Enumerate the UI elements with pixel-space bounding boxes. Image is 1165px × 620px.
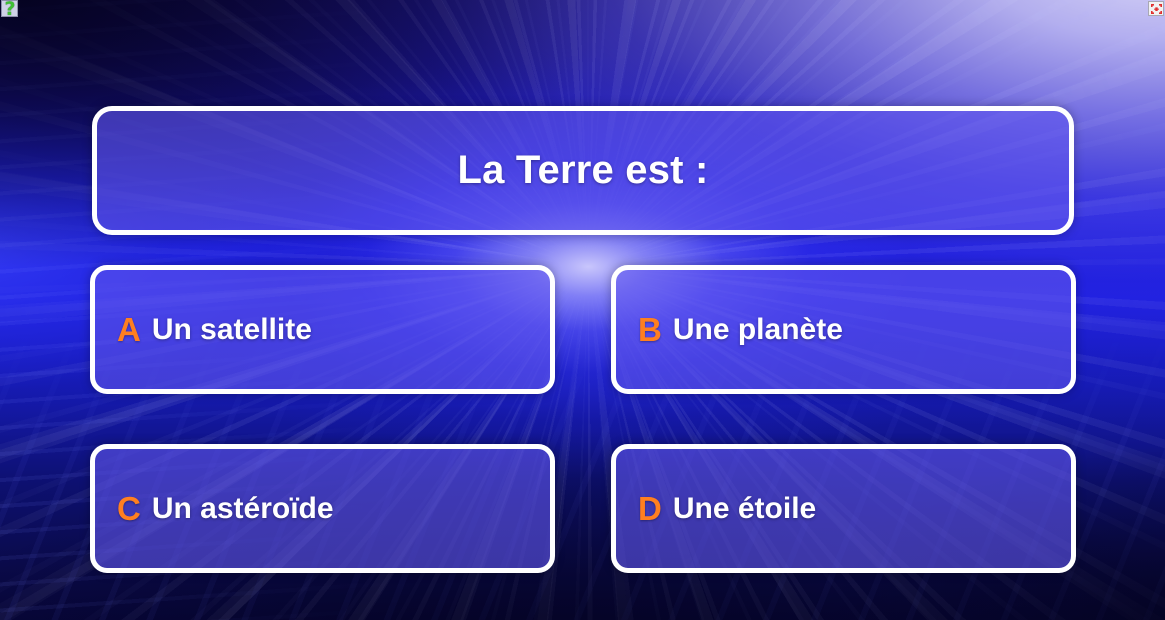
- answer-label-d: Une étoile: [673, 494, 816, 524]
- quiz-slide: La Terre est : A Un satellite B Une plan…: [0, 0, 1165, 620]
- answer-option-b[interactable]: B Une planète: [611, 265, 1076, 394]
- help-question-icon[interactable]: ?: [1, 0, 18, 17]
- help-question-glyph: ?: [4, 0, 15, 19]
- answer-option-c[interactable]: C Un astéroïde: [90, 444, 555, 573]
- question-panel: La Terre est :: [92, 106, 1074, 235]
- answer-label-a: Un satellite: [152, 315, 312, 345]
- answer-letter-a: A: [117, 313, 141, 346]
- broken-image-icon[interactable]: [1148, 1, 1164, 16]
- answer-label-c: Un astéroïde: [152, 494, 334, 524]
- question-text: La Terre est :: [457, 148, 708, 193]
- answer-letter-c: C: [117, 492, 141, 525]
- answer-option-a[interactable]: A Un satellite: [90, 265, 555, 394]
- answer-letter-d: D: [638, 492, 662, 525]
- answer-letter-b: B: [638, 313, 662, 346]
- answer-option-d[interactable]: D Une étoile: [611, 444, 1076, 573]
- answer-label-b: Une planète: [673, 315, 843, 345]
